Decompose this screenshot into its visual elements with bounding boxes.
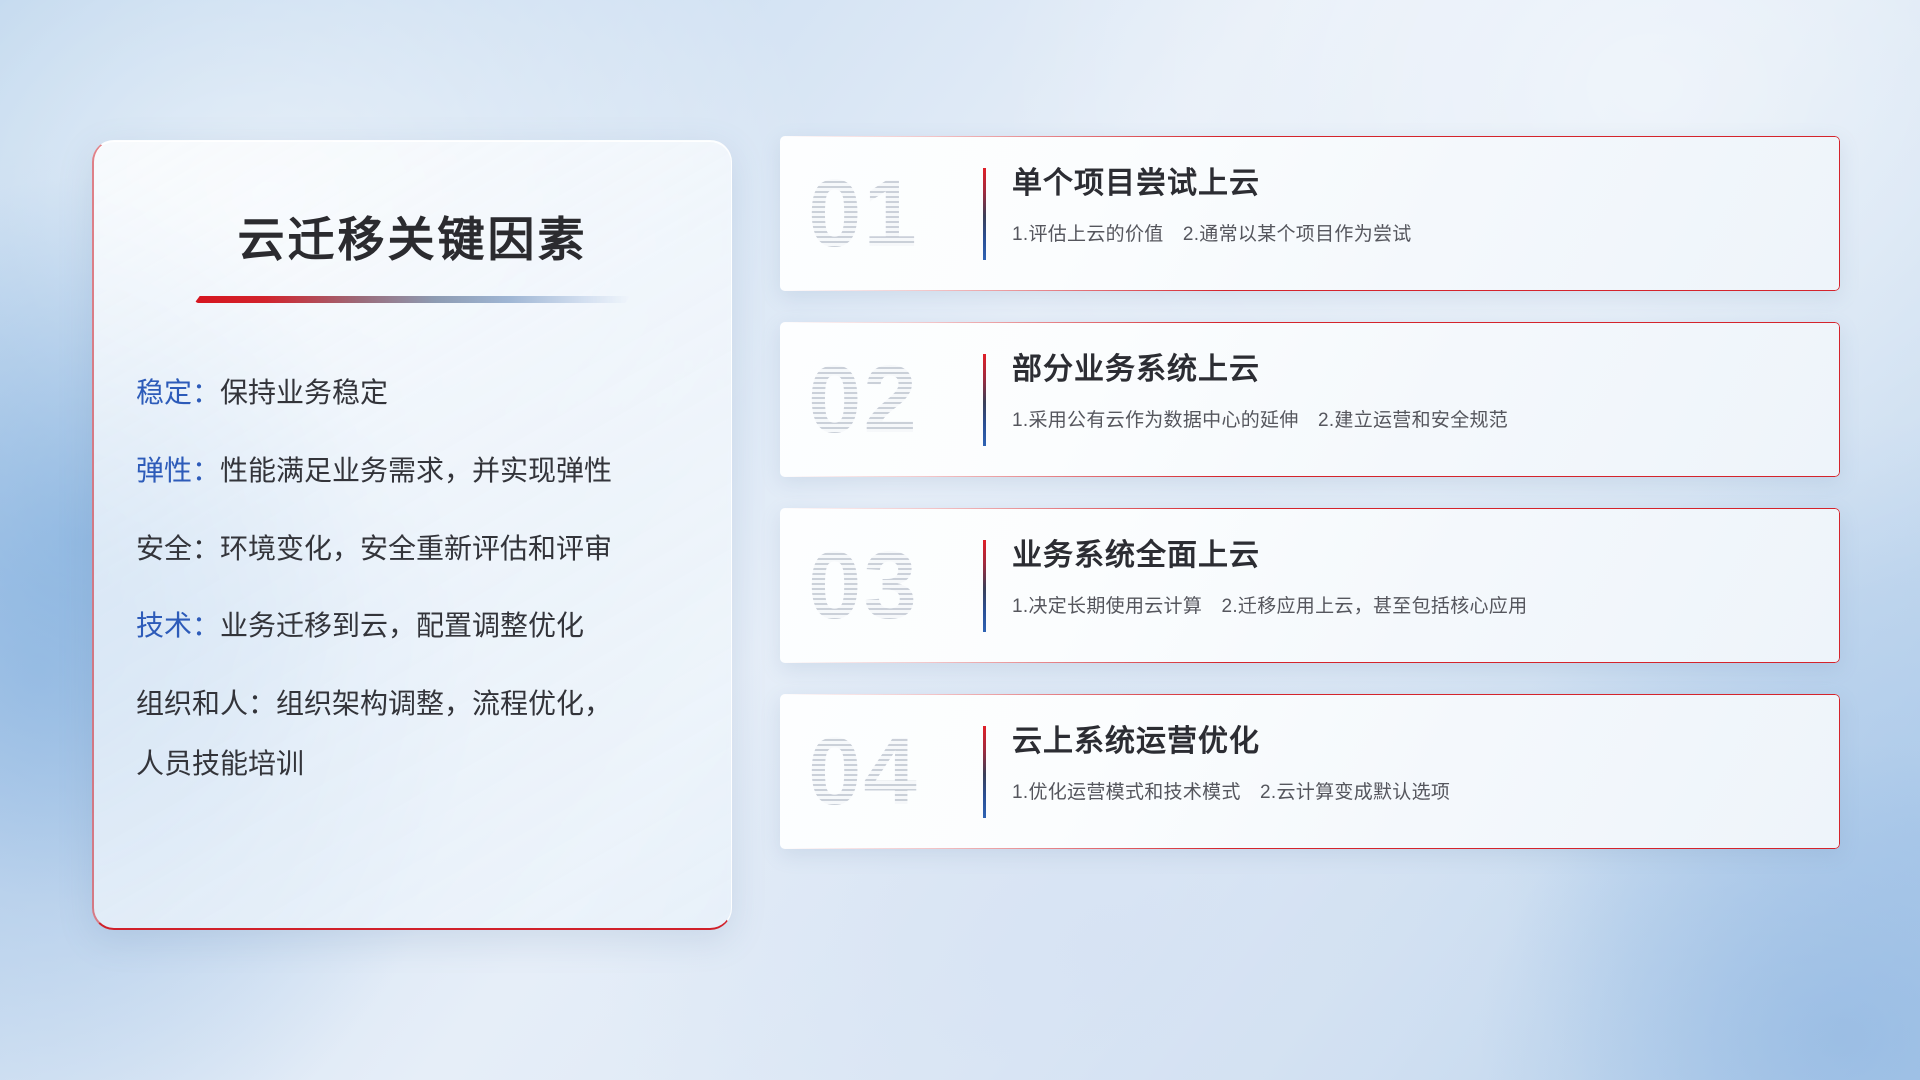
- factor-text: 性能满足业务需求，并实现弹性: [220, 455, 612, 486]
- stage-description: 1.采用公有云作为数据中心的延伸 2.建立运营和安全规范: [1012, 405, 1814, 432]
- stage-title: 业务系统全面上云: [1012, 538, 1814, 574]
- factor-item: 组织和人：组织架构调整，流程优化，: [136, 686, 731, 722]
- stage-number: 02: [808, 352, 919, 448]
- stage-card-body: 业务系统全面上云1.决定长期使用云计算 2.迁移应用上云，甚至包括核心应用: [1012, 538, 1814, 618]
- stage-card-body: 单个项目尝试上云1.评估上云的价值 2.通常以某个项目作为尝试: [1012, 166, 1814, 246]
- factor-label: 稳定：: [136, 377, 220, 408]
- stage-number: 04: [808, 724, 919, 820]
- page-title: 云迁移关键因素: [94, 201, 731, 270]
- stage-description: 1.决定长期使用云计算 2.迁移应用上云，甚至包括核心应用: [1012, 591, 1814, 618]
- stage-card[interactable]: 04云上系统运营优化1.优化运营模式和技术模式 2.云计算变成默认选项: [780, 694, 1840, 849]
- accent-bar: [983, 354, 986, 446]
- factor-label: 安全：: [136, 533, 220, 564]
- stage-title: 云上系统运营优化: [1012, 724, 1814, 760]
- stage-description: 1.优化运营模式和技术模式 2.云计算变成默认选项: [1012, 777, 1814, 804]
- stage-card[interactable]: 02部分业务系统上云1.采用公有云作为数据中心的延伸 2.建立运营和安全规范: [780, 322, 1840, 477]
- factor-text: 环境变化，安全重新评估和评审: [220, 533, 612, 564]
- factor-text: 业务迁移到云，配置调整优化: [220, 610, 584, 641]
- accent-bar: [983, 168, 986, 260]
- factor-label: 技术：: [136, 610, 220, 641]
- stage-card-list: 01单个项目尝试上云1.评估上云的价值 2.通常以某个项目作为尝试02部分业务系…: [780, 136, 1840, 849]
- stage-number: 03: [808, 538, 919, 634]
- factor-text: 组织架构调整，流程优化，: [276, 688, 612, 719]
- factor-item: 稳定：保持业务稳定: [136, 375, 731, 411]
- slide-canvas: 云迁移关键因素 稳定：保持业务稳定弹性：性能满足业务需求，并实现弹性安全：环境变…: [0, 0, 1920, 1080]
- factor-label: 弹性：: [136, 455, 220, 486]
- key-factors-panel: 云迁移关键因素 稳定：保持业务稳定弹性：性能满足业务需求，并实现弹性安全：环境变…: [92, 140, 732, 930]
- stage-card-body: 部分业务系统上云1.采用公有云作为数据中心的延伸 2.建立运营和安全规范: [1012, 352, 1814, 432]
- factor-item: 技术：业务迁移到云，配置调整优化: [136, 608, 731, 644]
- stage-description: 1.评估上云的价值 2.通常以某个项目作为尝试: [1012, 219, 1814, 246]
- factor-label: 组织和人：: [136, 688, 276, 719]
- stage-title: 单个项目尝试上云: [1012, 166, 1814, 202]
- title-underline-decoration: [195, 296, 631, 303]
- factor-list: 稳定：保持业务稳定弹性：性能满足业务需求，并实现弹性安全：环境变化，安全重新评估…: [136, 375, 731, 782]
- stage-card-body: 云上系统运营优化1.优化运营模式和技术模式 2.云计算变成默认选项: [1012, 724, 1814, 804]
- stage-card[interactable]: 01单个项目尝试上云1.评估上云的价值 2.通常以某个项目作为尝试: [780, 136, 1840, 291]
- stage-number: 01: [808, 166, 919, 262]
- accent-bar: [983, 540, 986, 632]
- stage-title: 部分业务系统上云: [1012, 352, 1814, 388]
- factor-text: 人员技能培训: [136, 748, 304, 779]
- factor-item: 弹性：性能满足业务需求，并实现弹性: [136, 453, 731, 489]
- accent-bar: [983, 726, 986, 818]
- factor-item: 安全：环境变化，安全重新评估和评审: [136, 531, 731, 567]
- factor-text: 保持业务稳定: [220, 377, 388, 408]
- stage-card[interactable]: 03业务系统全面上云1.决定长期使用云计算 2.迁移应用上云，甚至包括核心应用: [780, 508, 1840, 663]
- factor-item: 人员技能培训: [136, 746, 731, 782]
